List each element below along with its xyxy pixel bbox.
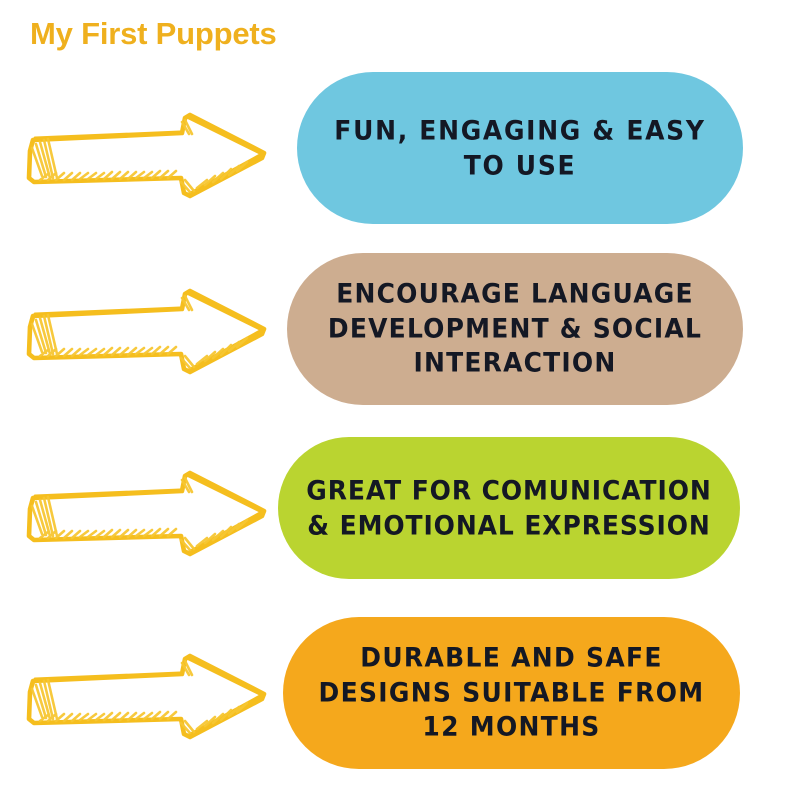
hand-drawn-right-arrow-icon [22,462,272,562]
feature-pill-2-label: ENCOURAGE LANGUAGE DEVELOPMENT & SOCIAL … [313,277,717,380]
feature-pill-3: GREAT FOR COMUNICATION & EMOTIONAL EXPRE… [278,437,740,579]
feature-pill-1-label: FUN, ENGAGING & EASY TO USE [323,114,717,183]
feature-pill-1: FUN, ENGAGING & EASY TO USE [297,72,743,224]
page-title: My First Puppets [30,16,277,52]
feature-pill-2: ENCOURAGE LANGUAGE DEVELOPMENT & SOCIAL … [287,253,743,405]
feature-pill-3-label: GREAT FOR COMUNICATION & EMOTIONAL EXPRE… [304,474,714,543]
hand-drawn-right-arrow-icon [22,104,272,204]
feature-pill-4: DURABLE AND SAFE DESIGNS SUITABLE FROM 1… [283,617,740,769]
feature-pill-4-label: DURABLE AND SAFE DESIGNS SUITABLE FROM 1… [309,641,714,744]
hand-drawn-right-arrow-icon [22,645,272,745]
hand-drawn-right-arrow-icon [22,280,272,380]
infographic-page: My First Puppets [0,0,800,800]
